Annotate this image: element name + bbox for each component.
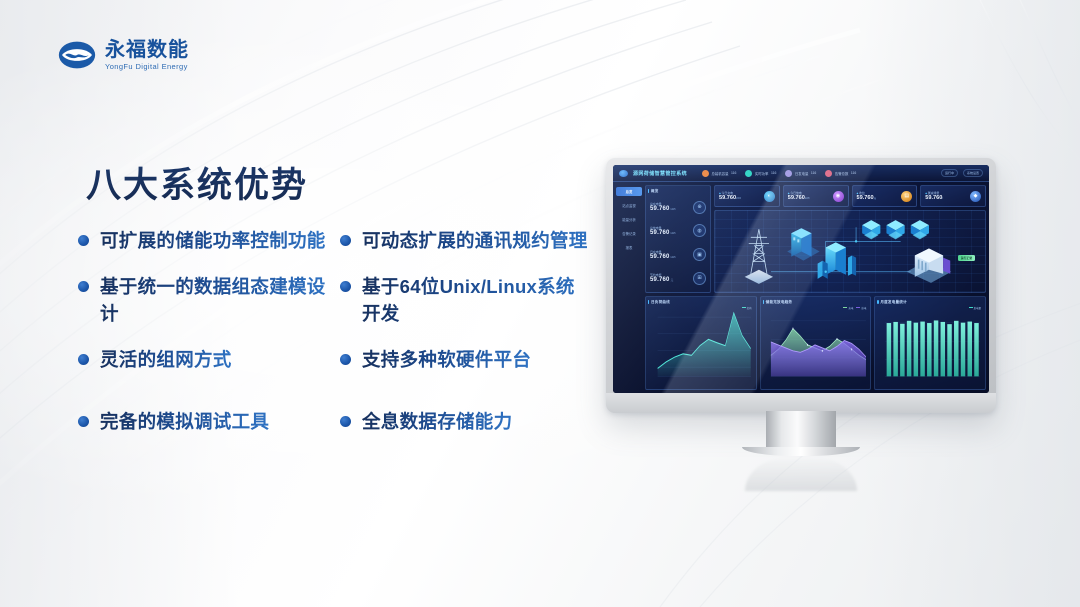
header-stat-label: 实时功率 (755, 171, 769, 176)
kpi-unit: kWh (671, 256, 676, 259)
stat-card: 碳减排量 59.760t ◆ (920, 185, 986, 207)
chart-panel-charge-trend: 储能充放电趋势 充电 放电 (760, 296, 872, 390)
dashboard-chart-row: 日负荷曲线 负荷 (645, 296, 986, 390)
sidebar-item-reports[interactable]: 报表 (616, 243, 642, 252)
chart-svg (878, 306, 982, 388)
list-item: 灵活的组网方式 (78, 347, 326, 373)
header-stat: 告警总数 116 (825, 170, 856, 177)
stat-card-unit: 元 (874, 197, 877, 200)
chart-area: 负荷 (646, 305, 756, 390)
alarm-icon (825, 170, 832, 177)
chart-title: 储能充放电趋势 (761, 297, 871, 305)
list-item-label: 全息数据存储能力 (362, 409, 512, 435)
settings-button[interactable]: 系统设置 (963, 169, 983, 177)
stat-card: 今日充电 59.760kWh ◐ (714, 185, 780, 207)
list-item-label: 可动态扩展的通讯规约管理 (362, 228, 588, 254)
kpi-item: 总充电量 59.760kWh ⊕ (650, 201, 706, 214)
chart-panel-load-curve: 日负荷曲线 负荷 (645, 296, 757, 390)
legend-entry: 充电 (843, 306, 853, 310)
status-badge: 运行中 (941, 169, 958, 177)
monitor-stand-foot (742, 447, 860, 456)
list-item: 可动态扩展的通讯规约管理 (340, 228, 588, 254)
substation-icon (907, 248, 952, 282)
monitor-reflection (745, 457, 857, 491)
kpi-unit: 元 (671, 279, 674, 282)
kpi-value: 59.760 (650, 277, 670, 283)
list-item-label: 基于64位Unix/Linux系统开发 (362, 274, 588, 327)
list-item-label: 灵活的组网方式 (100, 347, 232, 373)
dashboard-header: 源网荷储智慧管控系统 总装机容量 116 实时功率 116 (613, 165, 989, 182)
stat-card-unit: kWh (805, 197, 810, 200)
header-stat-value: 116 (851, 171, 856, 175)
capacity-icon (702, 170, 709, 177)
header-stat-group: 总装机容量 116 实时功率 116 日发电量 11 (702, 170, 856, 177)
dashboard-title: 源网荷储智慧管控系统 (633, 170, 687, 177)
card-charge-icon: ◐ (764, 191, 775, 202)
tower-base (745, 270, 773, 284)
card-discharge-icon: ◉ (833, 191, 844, 202)
brand-name-en: YongFu Digital Energy (105, 63, 189, 71)
dashboard-body: 总览 站点监视 能量分析 告警记录 报表 概览 (613, 182, 989, 393)
header-stat-label: 告警总数 (835, 171, 849, 176)
diagram-status-badge: 运行正常 (958, 255, 975, 261)
stat-card-value: 59.760 (857, 195, 874, 201)
card-profit-icon: ▤ (901, 191, 912, 202)
stat-card-value: 59.760 (788, 195, 805, 201)
list-item: 支持多种软硬件平台 (340, 347, 588, 373)
chart-title: 月度发电量统计 (875, 297, 985, 305)
daily-icon: ▣ (693, 248, 706, 261)
dashboard-main: 概览 总充电量 59.760kWh ⊕ (645, 185, 986, 390)
legend-entry: 负荷 (742, 306, 752, 310)
discharge-icon: ◍ (693, 224, 706, 237)
sidebar-item-station[interactable]: 站点监视 (616, 201, 642, 210)
sidebar-item-overview[interactable]: 总览 (616, 187, 642, 196)
bullet-dot-icon (340, 281, 351, 292)
header-stat: 日发电量 116 (785, 170, 816, 177)
header-right-group: 运行中 系统设置 (941, 169, 983, 177)
dashboard-app: 源网荷储智慧管控系统 总装机容量 116 实时功率 116 (613, 165, 989, 393)
monitor-stand-neck (766, 411, 836, 451)
topology-diagram: 运行正常 (714, 210, 986, 293)
stat-card-unit: kWh (736, 197, 741, 200)
tower-icon (749, 229, 769, 274)
chart-area: 发电量 (875, 305, 985, 390)
brand-name-cn: 永福数能 (105, 40, 189, 60)
kpi-item: 日充电量 59.760kWh ▣ (650, 248, 706, 261)
dashboard-logo-icon (619, 170, 628, 177)
saving-icon: ⊞ (693, 272, 706, 285)
power-icon (745, 170, 752, 177)
dashboard-sidebar: 总览 站点监视 能量分析 告警记录 报表 (616, 185, 642, 390)
kpi-panel-title: 概览 (646, 186, 710, 194)
chart-panel-generation: 月度发电量统计 发电量 (874, 296, 986, 390)
dashboard-top-row: 概览 总充电量 59.760kWh ⊕ (645, 185, 986, 293)
wave-emblem-icon (58, 40, 96, 70)
monitor-mockup: 源网荷储智慧管控系统 总装机容量 116 实时功率 116 (606, 158, 996, 413)
advantages-column-right: 可动态扩展的通讯规约管理 基于64位Unix/Linux系统开发 支持多种软硬件… (340, 228, 588, 457)
header-stat-label: 日发电量 (795, 171, 809, 176)
storage-icon (818, 242, 856, 278)
page-title: 八大系统优势 (86, 157, 308, 208)
list-item-label: 基于统一的数据组态建模设计 (100, 274, 326, 327)
bullet-dot-icon (78, 281, 89, 292)
advantages-list: 可扩展的储能功率控制功能 基于统一的数据组态建模设计 灵活的组网方式 完备的模拟… (78, 228, 588, 457)
load-node-icon (862, 220, 880, 239)
legend-entry: 发电量 (969, 306, 982, 310)
header-stat-value: 116 (811, 171, 816, 175)
sidebar-item-analysis[interactable]: 能量分析 (616, 215, 642, 224)
kpi-list: 总充电量 59.760kWh ⊕ 总放电量 (646, 194, 710, 293)
energy-icon (785, 170, 792, 177)
chart-svg (764, 306, 868, 388)
bullet-dot-icon (78, 235, 89, 246)
kpi-value: 59.760 (650, 206, 670, 212)
list-item: 完备的模拟调试工具 (78, 409, 326, 435)
monitor-bezel: 源网荷储智慧管控系统 总装机容量 116 实时功率 116 (606, 158, 996, 413)
slide-root: 永福数能 YongFu Digital Energy 八大系统优势 可扩展的储能… (0, 0, 1080, 607)
stat-card-value: 59.760 (925, 195, 942, 201)
list-item-label: 可扩展的储能功率控制功能 (100, 228, 326, 254)
bullet-dot-icon (340, 235, 351, 246)
kpi-unit: kWh (671, 208, 676, 211)
card-carbon-icon: ◆ (970, 191, 981, 202)
header-stat: 总装机容量 116 (702, 170, 736, 177)
kpi-panel: 概览 总充电量 59.760kWh ⊕ (645, 185, 711, 293)
stat-card: 今日放电 59.760kWh ◉ (783, 185, 849, 207)
load-node-icon (886, 220, 904, 239)
stat-card-value: 59.760 (719, 195, 736, 201)
header-stat-label: 总装机容量 (712, 171, 729, 176)
kpi-item: 总放电量 59.760kWh ◍ (650, 224, 706, 237)
bullet-dot-icon (340, 416, 351, 427)
kpi-value: 59.760 (650, 230, 670, 236)
stat-card-row: 今日充电 59.760kWh ◐ 今日放电 (714, 185, 986, 207)
chart-legend: 充电 放电 (843, 306, 866, 310)
chart-title: 日负荷曲线 (646, 297, 756, 305)
monitor-chin (606, 393, 996, 413)
monitor-screen: 源网荷储智慧管控系统 总装机容量 116 实时功率 116 (613, 165, 989, 393)
dashboard-right-stack: 今日充电 59.760kWh ◐ 今日放电 (714, 185, 986, 293)
kpi-unit: kWh (671, 232, 676, 235)
bullet-dot-icon (78, 416, 89, 427)
advantages-column-left: 可扩展的储能功率控制功能 基于统一的数据组态建模设计 灵活的组网方式 完备的模拟… (78, 228, 326, 457)
bullet-dot-icon (78, 354, 89, 365)
chart-legend: 发电量 (969, 306, 982, 310)
bullet-dot-icon (340, 354, 351, 365)
list-item-label: 支持多种软硬件平台 (362, 347, 531, 373)
sidebar-item-alarms[interactable]: 告警记录 (616, 229, 642, 238)
stat-card-unit: t (942, 197, 943, 200)
kpi-value: 59.760 (650, 254, 670, 260)
list-item: 基于统一的数据组态建模设计 (78, 274, 326, 327)
chart-svg (649, 306, 753, 388)
chart-legend: 负荷 (742, 306, 752, 310)
header-stat: 实时功率 116 (745, 170, 776, 177)
topology-svg (715, 211, 985, 292)
legend-entry: 放电 (856, 306, 866, 310)
list-item: 全息数据存储能力 (340, 409, 588, 435)
list-item: 可扩展的储能功率控制功能 (78, 228, 326, 254)
brand-logo: 永福数能 YongFu Digital Energy (58, 40, 189, 71)
plant-icon (787, 228, 819, 260)
list-item: 基于64位Unix/Linux系统开发 (340, 274, 588, 327)
header-stat-value: 116 (731, 171, 736, 175)
charge-icon: ⊕ (693, 201, 706, 214)
stat-card: 收益 59.760元 ▤ (852, 185, 918, 207)
load-node-icon (911, 220, 929, 239)
list-item-label: 完备的模拟调试工具 (100, 409, 269, 435)
header-stat-value: 116 (771, 171, 776, 175)
kpi-item: 节约电费 59.760元 ⊞ (650, 272, 706, 285)
chart-area: 充电 放电 (761, 305, 871, 390)
